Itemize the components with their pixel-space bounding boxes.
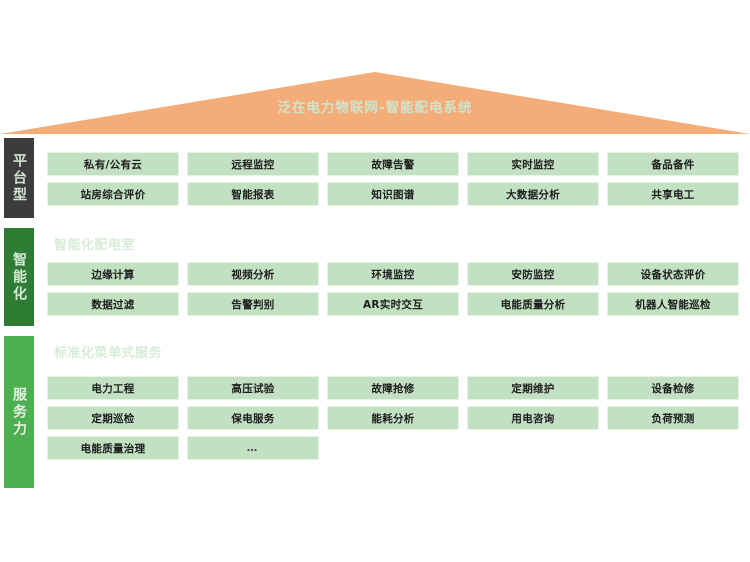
panel-header-service: 标准化菜单式服务	[54, 342, 162, 361]
capability-cell[interactable]: 实时监控	[467, 152, 599, 176]
capability-cell[interactable]: 共享电工	[607, 182, 739, 206]
side-label-service-text: 服务力	[12, 387, 26, 438]
roof-banner: 泛在电力物联网-智能配电系统	[0, 72, 750, 134]
capability-cell[interactable]: 故障告警	[327, 152, 459, 176]
capability-cell[interactable]: 定期维护	[467, 376, 599, 400]
capability-cell[interactable]: 智能报表	[187, 182, 319, 206]
capability-cell[interactable]: 设备状态评价	[607, 262, 739, 286]
capability-cell[interactable]: 机器人智能巡检	[607, 292, 739, 316]
capability-cell[interactable]: 高压试验	[187, 376, 319, 400]
capability-cell[interactable]: 远程监控	[187, 152, 319, 176]
panel-header-intelligent: 智能化配电室	[54, 234, 135, 253]
capability-cell[interactable]: 私有/公有云	[47, 152, 179, 176]
capability-cell[interactable]: 大数据分析	[467, 182, 599, 206]
side-label-service: 服务力	[4, 336, 34, 488]
capability-cell[interactable]: 电能质量治理	[47, 436, 179, 460]
capability-cell[interactable]: 数据过滤	[47, 292, 179, 316]
diagram-canvas: 泛在电力物联网-智能配电系统 平台型 私有/公有云远程监控故障告警实时监控备品备…	[0, 0, 750, 562]
capability-cell[interactable]: 电力工程	[47, 376, 179, 400]
capability-cell[interactable]: 备品备件	[607, 152, 739, 176]
capability-cell[interactable]: 保电服务	[187, 406, 319, 430]
capability-cell[interactable]: 视频分析	[187, 262, 319, 286]
capability-cell[interactable]: 边缘计算	[47, 262, 179, 286]
capability-cell[interactable]: 安防监控	[467, 262, 599, 286]
capability-cell[interactable]: 定期巡检	[47, 406, 179, 430]
capability-cell[interactable]: 用电咨询	[467, 406, 599, 430]
roof-title: 泛在电力物联网-智能配电系统	[0, 100, 750, 116]
capability-cell[interactable]: 负荷预测	[607, 406, 739, 430]
capability-cell[interactable]: …	[187, 436, 319, 460]
capability-cell[interactable]: AR实时交互	[327, 292, 459, 316]
side-label-platform: 平台型	[4, 138, 34, 218]
side-label-platform-text: 平台型	[12, 153, 26, 204]
side-label-intelligent: 智能化	[4, 228, 34, 326]
capability-cell[interactable]: 能耗分析	[327, 406, 459, 430]
capability-cell[interactable]: 电能质量分析	[467, 292, 599, 316]
capability-cell[interactable]: 环境监控	[327, 262, 459, 286]
capability-cell[interactable]: 知识图谱	[327, 182, 459, 206]
capability-cell[interactable]: 故障抢修	[327, 376, 459, 400]
capability-cell[interactable]: 站房综合评价	[47, 182, 179, 206]
side-label-intelligent-text: 智能化	[12, 252, 26, 303]
capability-cell[interactable]: 告警判别	[187, 292, 319, 316]
capability-cell[interactable]: 设备检修	[607, 376, 739, 400]
